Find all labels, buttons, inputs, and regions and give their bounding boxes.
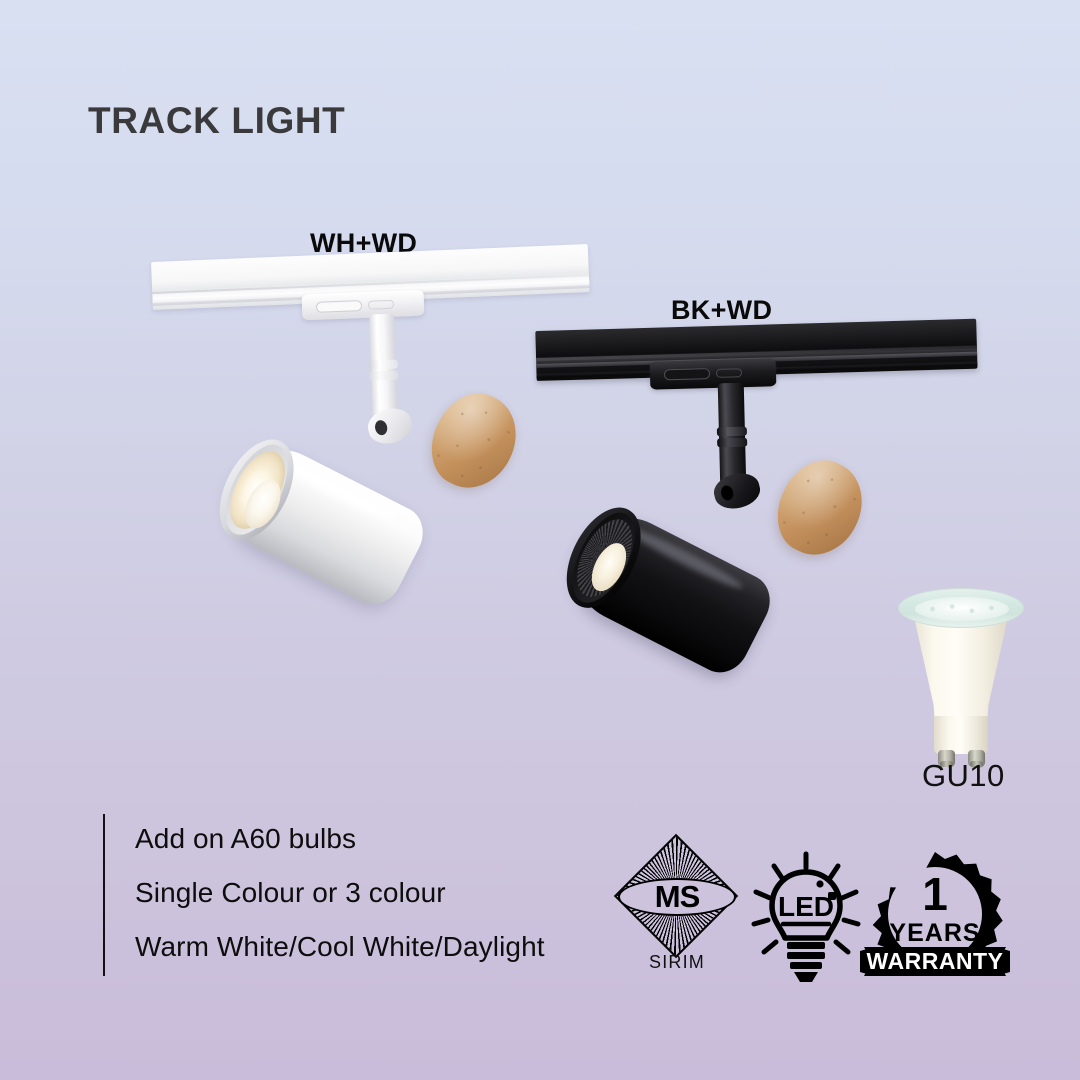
wood-cap-white <box>417 380 531 501</box>
knuckle-pin <box>374 419 389 436</box>
warranty-number: 1 <box>922 868 948 920</box>
warranty-seal-svg: 1 YEARS WARRANTY <box>860 848 1010 988</box>
led-text: LED <box>778 891 834 922</box>
adapter-latch-secondary <box>368 300 394 310</box>
sirim-caption: SIRIM <box>612 952 742 973</box>
sirim-ms-badge: MS SIRIM <box>612 852 742 984</box>
led-bulb-svg: LED <box>746 848 866 988</box>
stem-collar <box>369 359 398 369</box>
wood-grain-texture <box>417 380 531 501</box>
poster-canvas: TRACK LIGHT WH+WD BK+WD <box>0 0 1080 1080</box>
track-adapter-black <box>650 358 777 390</box>
certification-badges: MS SIRIM LED <box>612 848 1012 988</box>
product-label-black: BK+WD <box>671 295 772 326</box>
knuckle-pin <box>720 484 735 501</box>
led-bulb-icon: LED <box>746 848 866 988</box>
tilt-knuckle-black <box>711 469 764 513</box>
warranty-banner-text: WARRANTY <box>867 948 1004 974</box>
wood-grain-texture <box>763 447 877 568</box>
fixture-stem-black <box>718 383 747 488</box>
feature-list: Add on A60 bulbs Single Colour or 3 colo… <box>135 812 545 974</box>
feature-divider-rule <box>103 814 105 976</box>
feature-item: Single Colour or 3 colour <box>135 866 545 920</box>
bulb-neck <box>934 716 988 754</box>
stem-collar <box>717 427 747 437</box>
stem-collar <box>717 438 747 448</box>
feature-item: Add on A60 bulbs <box>135 812 545 866</box>
adapter-latch <box>316 300 362 313</box>
page-title: TRACK LIGHT <box>88 100 345 142</box>
bulb-sparkle-square <box>828 892 836 900</box>
feature-item: Warm White/Cool White/Daylight <box>135 920 545 974</box>
warranty-badge: 1 YEARS WARRANTY <box>860 848 1010 988</box>
warranty-unit: YEARS <box>889 919 980 947</box>
bulb-glass-lens <box>898 588 1024 628</box>
adapter-latch-secondary <box>716 368 742 378</box>
sirim-ms-text: MS <box>612 880 742 914</box>
bulb-led-dots <box>921 600 1003 618</box>
fixture-stem-white <box>369 314 398 421</box>
gu10-caption: GU10 <box>922 758 1005 794</box>
track-adapter-white <box>302 290 425 321</box>
adapter-latch <box>664 368 710 380</box>
wood-cap-black <box>763 447 877 568</box>
stem-collar <box>369 370 398 380</box>
bulb-sparkle-dot <box>816 880 823 887</box>
bulb-base <box>787 942 825 982</box>
